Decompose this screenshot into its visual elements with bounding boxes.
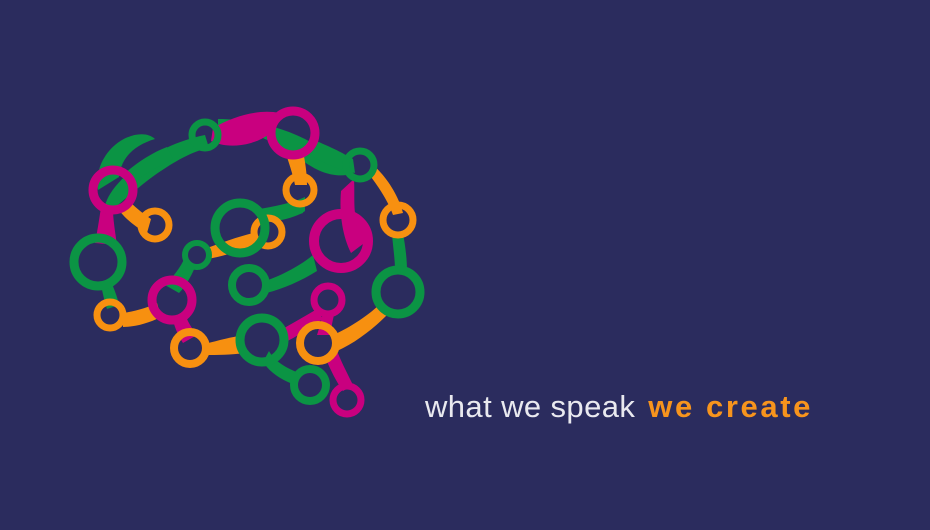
node-green-center-small (185, 243, 209, 267)
node-green-stem (294, 369, 326, 401)
brand-tagline: what we speak we create (425, 389, 813, 427)
node-green-right-large (376, 270, 420, 314)
node-green-center-mid (232, 268, 266, 302)
node-orange-low-right (300, 325, 336, 361)
splash-canvas: what we speak we create (0, 0, 930, 530)
link-green-centermid-to-magcenter (265, 255, 317, 293)
node-magenta-small-low (314, 286, 342, 314)
tagline-bold-text: we create (648, 389, 813, 425)
node-green-bottom-mid (240, 318, 284, 362)
node-magenta-stem (333, 386, 361, 414)
tagline-light-text: what we speak (425, 389, 635, 425)
brain-network-logo (55, 95, 440, 440)
node-green-left-large (74, 238, 122, 286)
link-green-right-down (392, 233, 407, 271)
brain-network-svg (55, 95, 440, 440)
